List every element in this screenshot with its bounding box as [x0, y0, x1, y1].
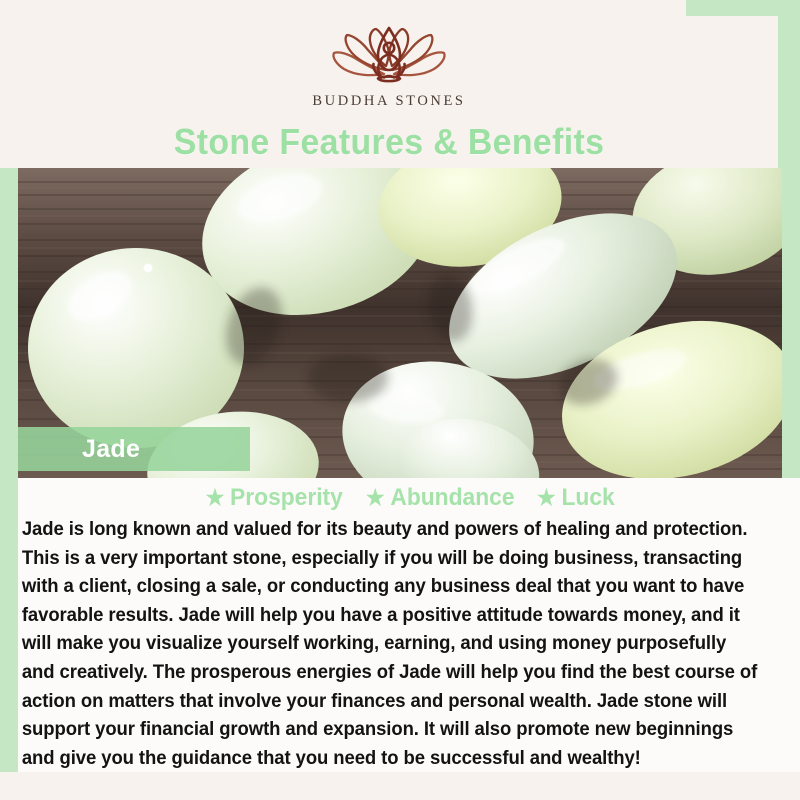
- stone-description: Jade is long known and valued for its be…: [18, 514, 773, 773]
- bottom-cream-strip: [0, 772, 800, 800]
- benefits-row: ★ Prosperity ★ Abundance ★ Luck: [18, 478, 800, 514]
- lotus-meditation-icon: [316, 22, 462, 88]
- benefit-item: ★ Abundance: [366, 484, 515, 512]
- page-frame: BUDDHA STONES Stone Features & Benefits: [0, 0, 800, 800]
- star-icon: ★: [366, 487, 385, 509]
- content-panel: ★ Prosperity ★ Abundance ★ Luck Jade is …: [18, 478, 800, 772]
- benefit-item: ★ Luck: [537, 484, 615, 512]
- logo-lockup: BUDDHA STONES: [312, 22, 465, 110]
- photo-caption-band: Jade: [18, 427, 250, 471]
- top-cream-strip: [0, 0, 686, 17]
- benefit-label: Prosperity: [230, 484, 343, 512]
- left-green-band: [0, 168, 18, 772]
- title-bar: Stone Features & Benefits: [0, 116, 778, 168]
- star-icon: ★: [205, 487, 224, 509]
- stone-name-label: Jade: [82, 435, 140, 464]
- star-icon: ★: [537, 487, 556, 509]
- page-title: Stone Features & Benefits: [174, 121, 605, 163]
- brand-name: BUDDHA STONES: [312, 93, 465, 110]
- benefit-label: Abundance: [390, 484, 514, 512]
- benefit-item: ★ Prosperity: [205, 484, 342, 512]
- brand-header: BUDDHA STONES: [0, 16, 778, 116]
- benefit-label: Luck: [561, 484, 614, 512]
